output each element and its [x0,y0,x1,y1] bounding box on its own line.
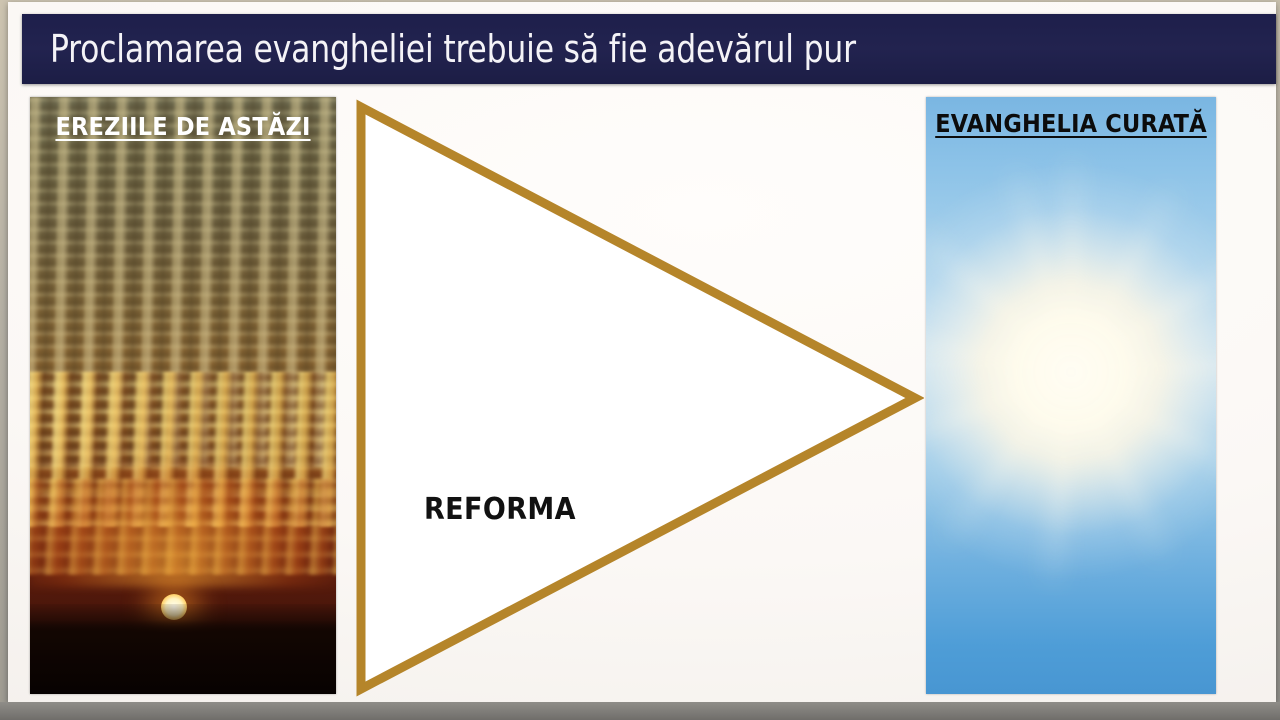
reforma-arrow [352,98,924,698]
slide-title: Proclamarea evangheliei trebuie să fie a… [50,27,856,71]
reforma-label: REFORMA [424,495,576,525]
horizon-glow [30,455,336,586]
sunburst-icon [926,162,1216,582]
bottom-strip [0,702,1280,720]
right-image-caption: EVANGHELIA CURATĂ [926,109,1216,138]
triangle-arrow-icon [361,107,915,689]
slide-title-bar: Proclamarea evangheliei trebuie să fie a… [22,14,1276,84]
left-image-caption: EREZIILE DE ASTĂZI [30,112,336,141]
left-image-sunset: EREZIILE DE ASTĂZI [30,97,336,694]
slide-canvas: Proclamarea evangheliei trebuie să fie a… [8,2,1276,702]
right-image-sunburst: EVANGHELIA CURATĂ [926,97,1216,694]
slide-root: Proclamarea evangheliei trebuie să fie a… [0,0,1280,720]
dark-foreground [30,604,336,694]
